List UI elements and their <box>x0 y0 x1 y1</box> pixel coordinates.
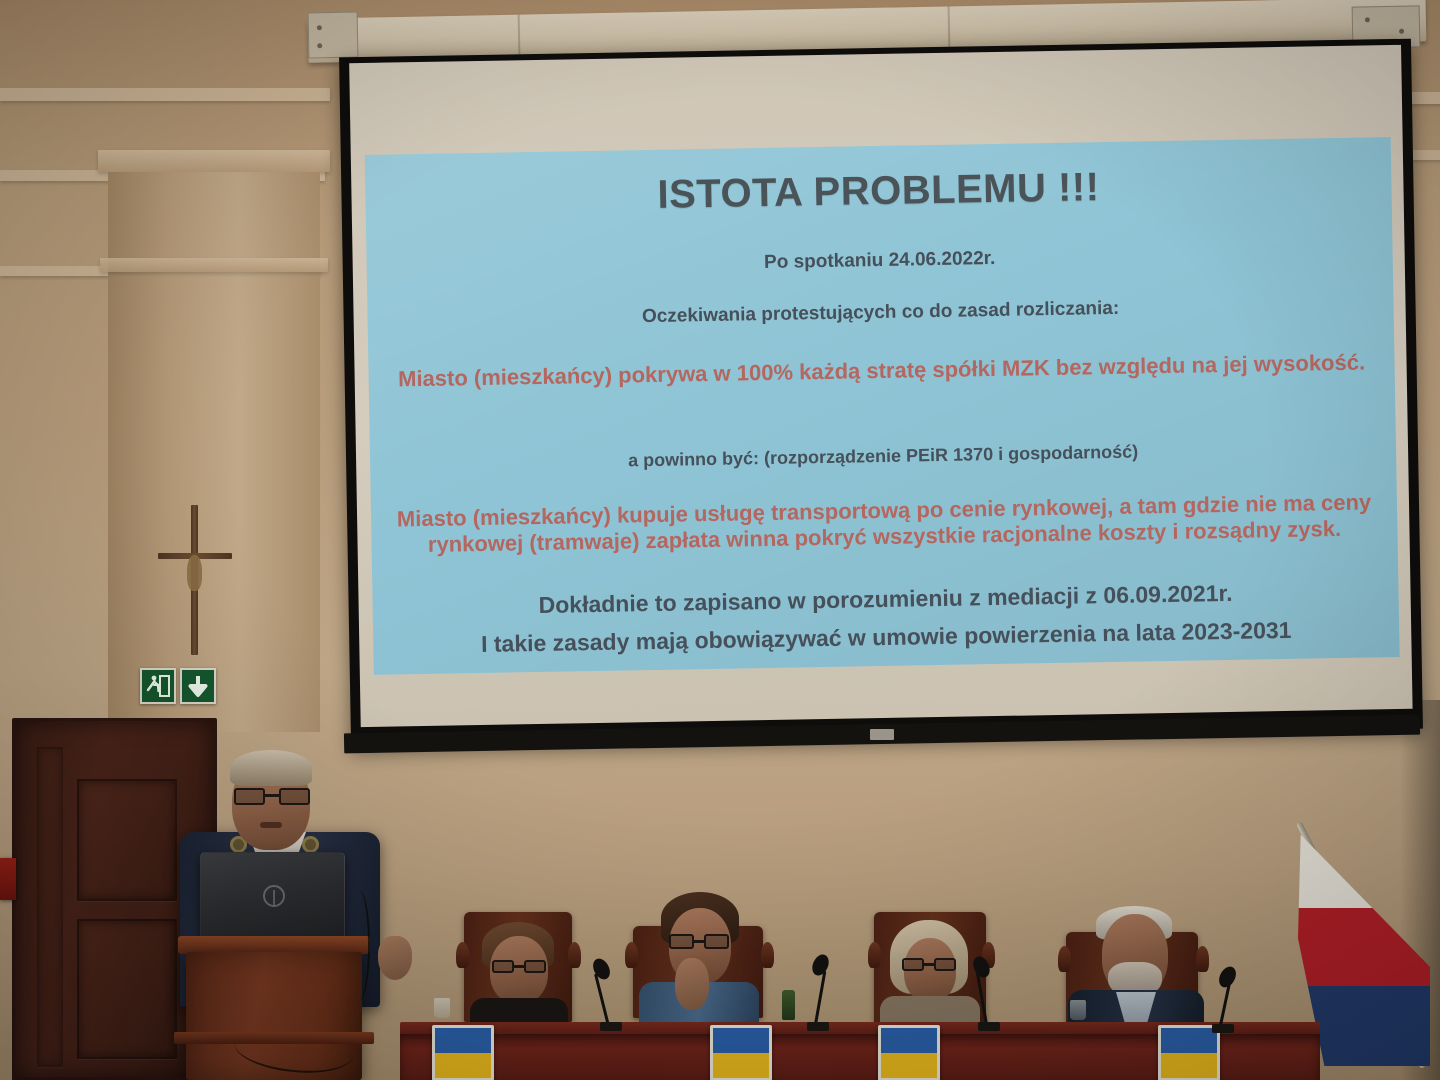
glasses-bridge <box>694 940 704 943</box>
door-stile-left <box>37 747 63 1067</box>
presenter-glasses <box>234 788 310 806</box>
presenter-mouth <box>260 822 282 828</box>
panelist-2-glasses <box>669 934 729 950</box>
bracket-screw <box>1365 17 1370 22</box>
bracket-screw <box>317 43 322 48</box>
glasses-bridge <box>265 794 279 797</box>
glasses-lens-left <box>902 958 924 971</box>
glasses-bridge <box>514 965 524 968</box>
chair-finial <box>761 942 774 968</box>
pilaster-capital <box>98 150 330 172</box>
microphone-2[interactable] <box>795 952 835 1030</box>
flag-band-blue <box>881 1028 937 1053</box>
mic-base <box>600 1022 622 1031</box>
microphone-1[interactable] <box>590 956 630 1030</box>
mic-head <box>809 952 832 978</box>
mic-head <box>970 954 993 980</box>
ukraine-flag-icon <box>713 1028 769 1078</box>
chair-finial <box>456 942 469 968</box>
mic-head <box>1216 964 1240 990</box>
screen-bracket-left <box>308 12 359 59</box>
council-chamber-room: ISTOTA PROBLEMU !!! Po spotkaniu 24.06.2… <box>0 0 1440 1080</box>
screen-fabric: ISTOTA PROBLEMU !!! Po spotkaniu 24.06.2… <box>349 45 1412 727</box>
list-item <box>878 1025 940 1080</box>
bracket-screw <box>317 25 322 30</box>
hp-logo <box>263 885 285 907</box>
glasses-lens-left <box>669 934 694 949</box>
mic-base <box>1212 1024 1234 1033</box>
flag-band-yellow <box>1161 1053 1217 1078</box>
screen-black-border: ISTOTA PROBLEMU !!! Po spotkaniu 24.06.2… <box>339 39 1423 748</box>
chair-finial <box>568 942 581 968</box>
arrow-down-icon <box>180 668 216 704</box>
pilaster-shelf <box>100 258 328 272</box>
ukraine-flag-icon <box>1161 1028 1217 1078</box>
flag-band-yellow <box>713 1053 769 1078</box>
glasses-bridge <box>924 963 934 966</box>
projection-screen-assembly: ISTOTA PROBLEMU !!! Po spotkaniu 24.06.2… <box>300 0 1440 770</box>
panelist-1 <box>460 908 580 1033</box>
emergency-signage-group <box>140 668 216 704</box>
glasses-lens-right <box>524 960 546 973</box>
mic-base <box>978 1022 1000 1031</box>
presenter-hand <box>378 936 412 980</box>
microphone-4[interactable] <box>1200 966 1240 1032</box>
ceremonial-chain-right <box>302 836 319 853</box>
flag-band-yellow <box>881 1053 937 1078</box>
glasses-lens-right <box>704 934 729 949</box>
housing-seam-2 <box>948 6 951 50</box>
glasses-lens-left <box>492 960 514 973</box>
projected-slide: ISTOTA PROBLEMU !!! Po spotkaniu 24.06.2… <box>365 137 1400 675</box>
screen-pull-tab <box>870 729 894 740</box>
flag-band-blue <box>713 1028 769 1053</box>
chair-finial <box>868 942 881 968</box>
housing-seam <box>518 15 521 59</box>
flag-band-red <box>1298 908 1430 986</box>
panelist-2 <box>625 886 775 1036</box>
ukraine-flag-icon <box>881 1028 937 1078</box>
mic-base <box>807 1022 829 1031</box>
emergency-exit-icon <box>140 668 176 704</box>
drinking-glass-2 <box>1070 1000 1086 1020</box>
flag-band-white <box>1298 830 1430 908</box>
presenter-hair <box>230 750 312 786</box>
podium-cable-2 <box>348 890 370 1000</box>
chair-finial <box>1058 946 1071 972</box>
list-item <box>710 1025 772 1080</box>
panelist-2-hand-at-chin <box>675 958 709 1010</box>
cornice-band-top <box>0 88 330 101</box>
glasses-lens-left <box>234 788 265 805</box>
panelist-3-glasses <box>902 958 956 972</box>
panelist-1-glasses <box>492 960 546 974</box>
wall-crucifix <box>150 505 240 655</box>
glasses-lens-right <box>279 788 310 805</box>
fire-hose-cabinet <box>0 858 16 900</box>
bracket-screw <box>1399 29 1404 34</box>
glasses-lens-right <box>934 958 956 971</box>
list-item <box>1158 1025 1220 1080</box>
mic-head <box>590 956 614 982</box>
water-bottle <box>782 990 795 1020</box>
microphone-3[interactable] <box>970 954 1010 1030</box>
presenter-laptop[interactable] <box>200 852 345 940</box>
crucifix-corpus <box>187 555 202 591</box>
council-panel-table <box>410 880 1310 1080</box>
presenter-at-podium <box>160 740 450 1080</box>
